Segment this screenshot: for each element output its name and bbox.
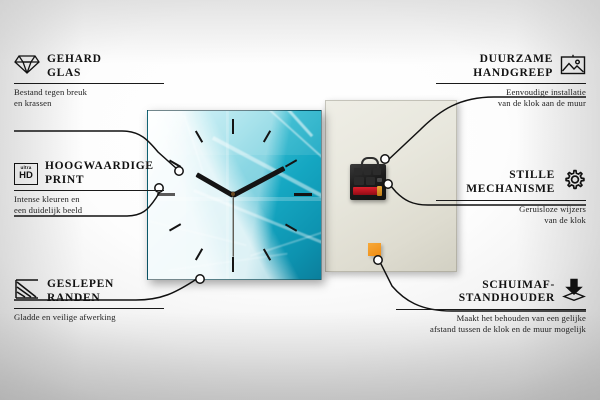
feature-title: SCHUIMAF- STANDHOUDER: [459, 279, 555, 306]
product-infographic: GEHARD GLAS Bestand tegen breuk en krass…: [0, 0, 600, 400]
feature-stille-mechanisme: STILLE MECHANISME Geruisloze wijzers van…: [436, 168, 586, 225]
feature-title: STILLE MECHANISME: [466, 169, 555, 196]
feature-divider: [14, 83, 164, 84]
feature-geslepen-randen: GESLEPEN RANDEN Gladde en veilige afwerk…: [14, 278, 164, 323]
feature-description: Eenvoudige installatie van de klok aan d…: [436, 87, 586, 108]
feature-schuimaf-standhouder: SCHUIMAF- STANDHOUDER Maakt het behouden…: [396, 278, 586, 334]
second-hand: [232, 195, 233, 257]
feature-description: Bestand tegen breuk en krassen: [14, 87, 164, 108]
feature-title: GEHARD GLAS: [47, 53, 102, 80]
feature-divider: [14, 190, 164, 191]
ultra-hd-icon-main-text: HD: [19, 171, 33, 181]
battery-terminal: [377, 186, 382, 196]
feature-divider: [436, 200, 586, 201]
feature-divider: [396, 309, 586, 310]
feature-description: Maakt het behouden van een gelijke afsta…: [396, 313, 586, 334]
feature-description: Intense kleuren en een duidelijk beeld: [14, 194, 164, 215]
tick-mark-3: [294, 193, 312, 196]
diamond-icon: [14, 53, 40, 80]
feature-title: GESLEPEN RANDEN: [47, 278, 114, 305]
feature-title: DUURZAME HANDGREEP: [473, 53, 553, 80]
tick-mark-12: [232, 119, 234, 134]
feature-description: Gladde en veilige afwerking: [14, 312, 164, 323]
hanging-hook: [361, 157, 379, 168]
feature-description: Geruisloze wijzers van de klok: [436, 204, 586, 225]
feature-title: HOOGWAARDIGE PRINT: [45, 160, 154, 187]
arrow-down-block-icon: [562, 278, 586, 306]
feature-duurzame-handgreep: DUURZAME HANDGREEP Eenvoudige installati…: [436, 53, 586, 108]
minute-hand: [232, 166, 285, 197]
feature-hoogwaardige-print: ultra HD HOOGWAARDIGE PRINT Intense kleu…: [14, 160, 164, 215]
tick-mark-2: [285, 159, 297, 168]
ultra-hd-icon: ultra HD: [14, 163, 38, 185]
gear-icon: [562, 168, 586, 197]
clock-hands-pivot: [231, 192, 235, 196]
feature-divider: [436, 83, 586, 84]
picture-frame-icon: [560, 54, 586, 80]
diagonal-lines-icon: [14, 278, 40, 305]
feature-divider: [14, 308, 164, 309]
foam-spacer-pad: [368, 243, 381, 256]
tick-mark-6: [232, 257, 234, 272]
feature-gehard-glas: GEHARD GLAS Bestand tegen breuk en krass…: [14, 53, 164, 108]
